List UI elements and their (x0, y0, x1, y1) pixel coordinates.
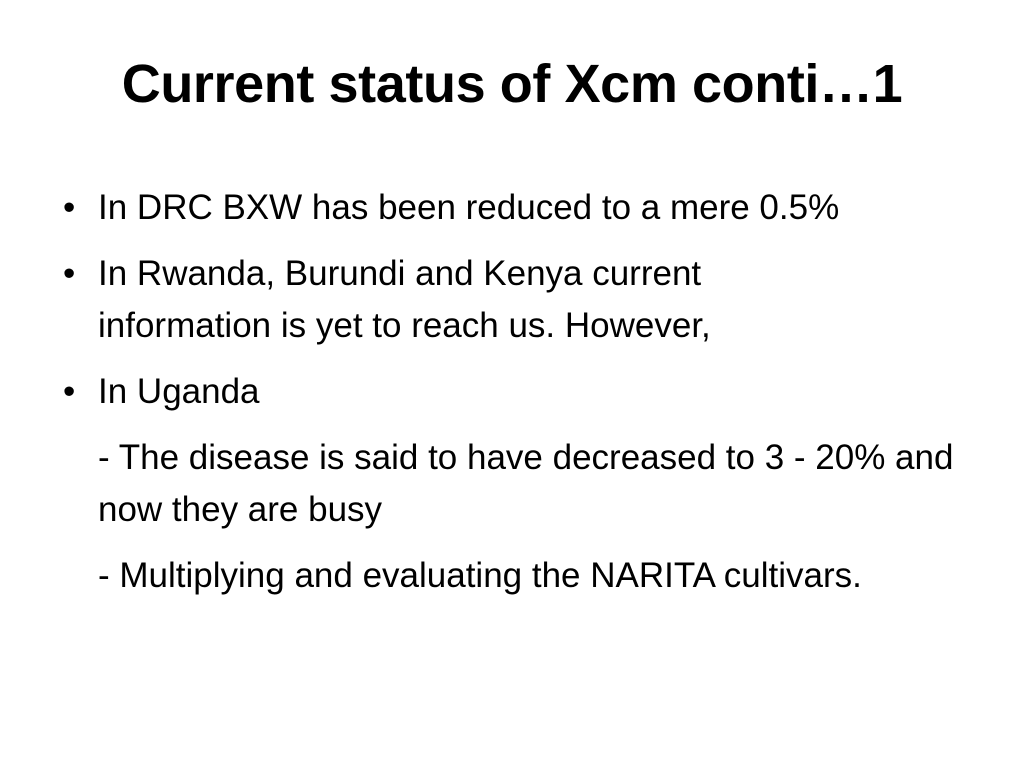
slide-body: • In DRC BXW has been reduced to a mere … (52, 182, 982, 616)
bullet-icon: • (63, 182, 87, 234)
sub-list-item: - Multiplying and evaluating the NARITA … (52, 550, 868, 602)
slide-title: Current status of Xcm conti…1 (52, 56, 972, 113)
sub-list-item-text: - Multiplying and evaluating the NARITA … (98, 550, 868, 602)
slide-canvas: Current status of Xcm conti…1 • In DRC B… (0, 0, 1024, 768)
list-item-text: In Rwanda, Burundi and Kenya current inf… (98, 248, 868, 352)
sub-list-item-text: - The disease is said to have decreased … (98, 432, 982, 536)
bullet-icon: • (63, 248, 87, 300)
bullet-icon: • (63, 366, 87, 418)
list-item-text: In DRC BXW has been reduced to a mere 0.… (98, 182, 982, 234)
sub-list-item: - The disease is said to have decreased … (52, 432, 982, 536)
list-item-text: In Uganda (98, 366, 982, 418)
list-item: • In Uganda (52, 366, 982, 418)
list-item: • In DRC BXW has been reduced to a mere … (52, 182, 982, 234)
list-item: • In Rwanda, Burundi and Kenya current i… (52, 248, 868, 352)
